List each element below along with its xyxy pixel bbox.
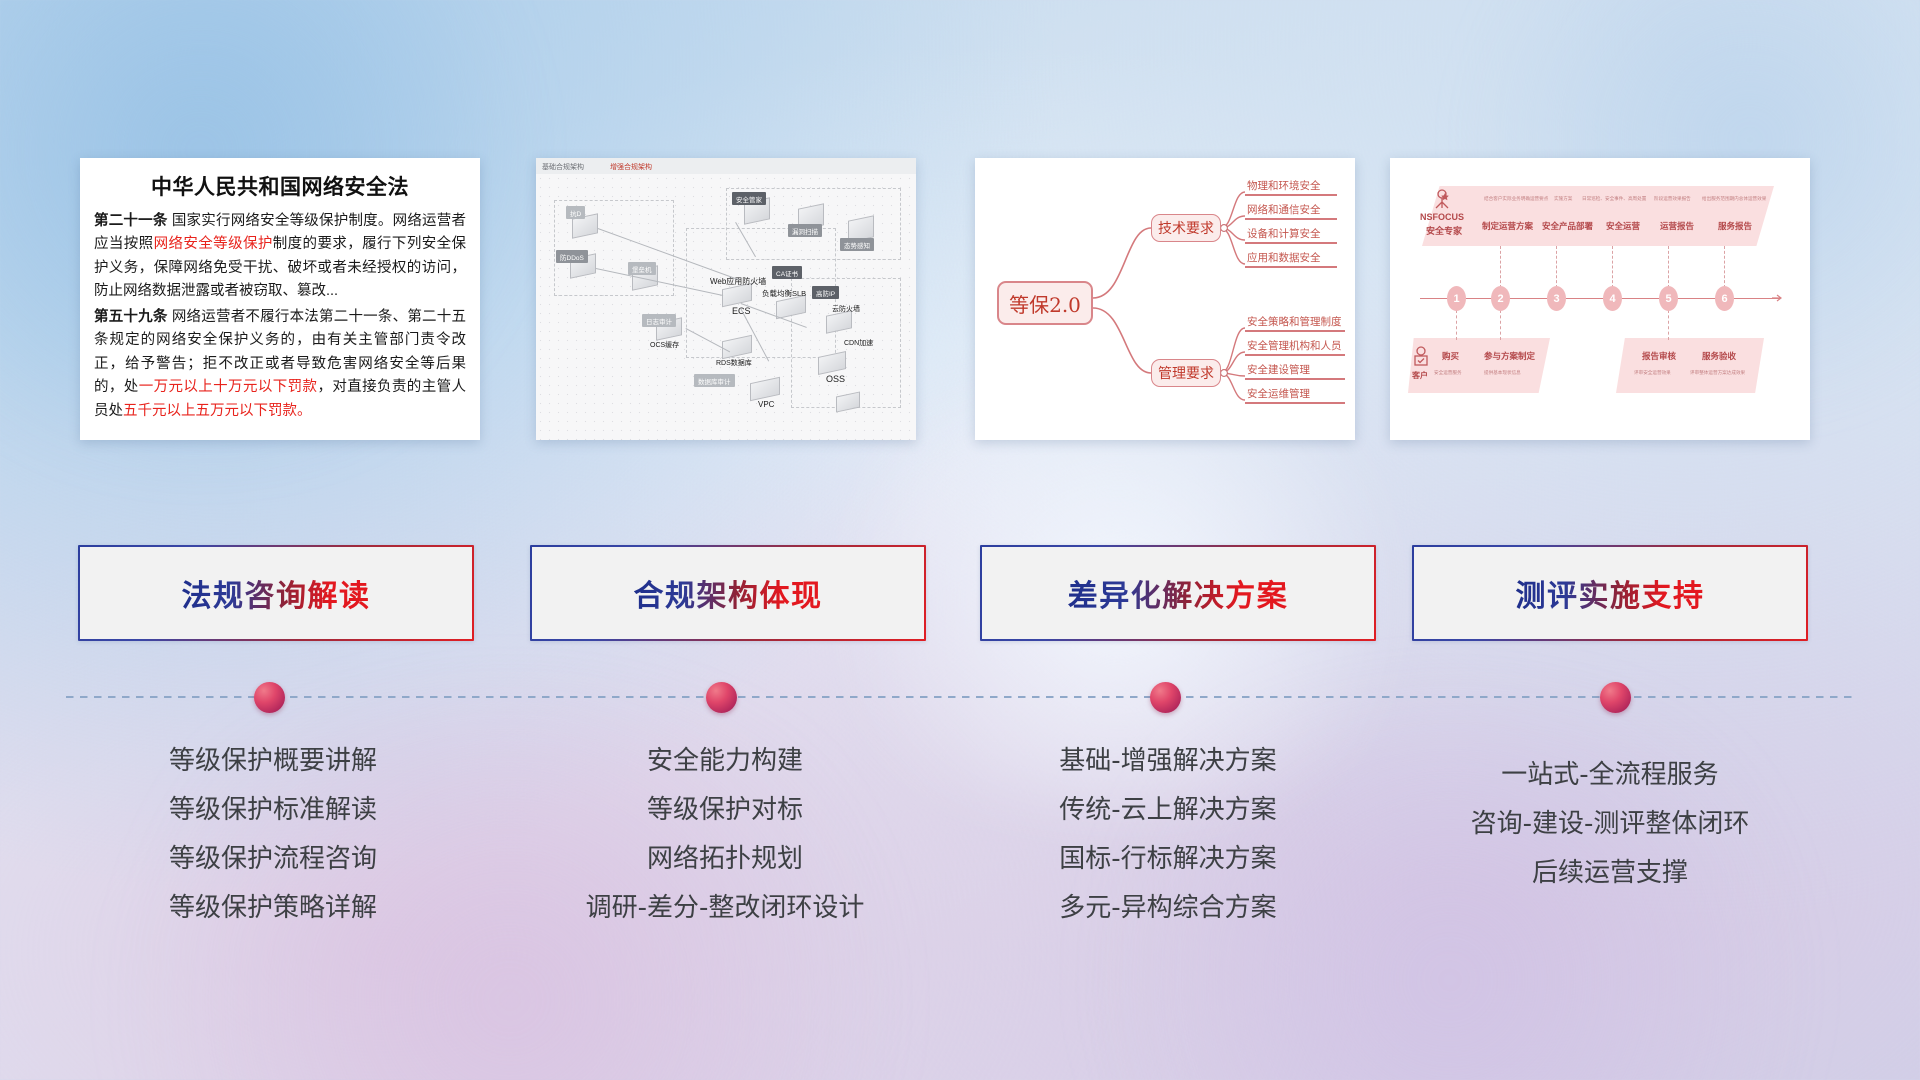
nsfocus-dash (1500, 246, 1501, 288)
mindmap-leaf: 安全策略和管理制度 (1247, 314, 1342, 331)
mindmap-leaf: 安全运维管理 (1247, 386, 1310, 403)
title-label: 差异化解决方案 (1068, 571, 1289, 615)
mindmap-card: 等保2.0 技术要求 管理要求 物理和环境安全 网络和通信安全 设备和计算安全 … (975, 158, 1355, 440)
law-article-59-number: 第五十九条 (94, 309, 168, 325)
mindmap-leaf: 物理和环境安全 (1247, 178, 1321, 195)
nsfocus-step: 6 (1715, 286, 1734, 311)
nsfocus-dash (1500, 310, 1501, 340)
arch-text: 负载均衡SLB (762, 288, 806, 299)
mindmap-leaf-underline (1245, 194, 1337, 196)
arch-label: 日志审计 (642, 314, 676, 327)
timeline-dot-4 (1600, 682, 1631, 713)
nsfocus-bottom-big: 购买 (1442, 350, 1459, 362)
architecture-band-left-label: 基础合规架构 (542, 162, 584, 172)
architecture-band-right-label: 增强合规架构 (610, 162, 652, 172)
mindmap-leaf: 安全建设管理 (1247, 362, 1310, 379)
title-box-compliance-architecture[interactable]: 合规架构体现 (530, 545, 926, 641)
mindmap-leaf-underline (1245, 266, 1337, 268)
nsfocus-step: 2 (1491, 286, 1510, 311)
arch-label: 安全管家 (732, 192, 766, 205)
arch-text: RDS数据库 (716, 358, 752, 368)
nsfocus-top-sub: 日常巡检、安全事件、高周处置 (1582, 196, 1646, 202)
law-card-title: 中华人民共和国网络安全法 (94, 171, 466, 201)
arch-label: CA证书 (772, 266, 802, 279)
law-article-21-run-1: 网络安全等级保护 (154, 236, 273, 252)
arch-label: 堡垒机 (628, 262, 656, 275)
law-article-21-number: 第二十一条 (94, 213, 168, 229)
arch-text: OCS缓存 (650, 340, 679, 350)
arch-label: 防DDoS (556, 250, 588, 263)
nsfocus-bottom-sub: 安全运营服务 (1434, 370, 1462, 376)
mindmap-leaf: 安全管理机构和人员 (1247, 338, 1342, 355)
list-item: 等级保护策略详解 (63, 887, 483, 930)
list-item: 调研-差分-整改闭环设计 (515, 887, 935, 930)
nsfocus-dash (1668, 310, 1669, 340)
list-item: 传统-云上解决方案 (958, 789, 1378, 832)
mindmap-branch-management: 管理要求 (1151, 359, 1221, 387)
title-label: 法规咨询解读 (182, 571, 371, 615)
slide-stage: 中华人民共和国网络安全法 第二十一条 国家实行网络安全等级保护制度。网络运营者应… (0, 0, 1920, 1080)
nsfocus-bottom-big: 服务验收 (1702, 350, 1736, 362)
nsfocus-dash (1556, 246, 1557, 288)
nsfocus-top-sub: 实施方案 (1554, 196, 1572, 202)
detail-column-4: 一站式-全流程服务 咨询-建设-测评整体闭环 后续运营支撑 (1400, 740, 1820, 901)
nsfocus-bottom-banner-right (1616, 338, 1764, 393)
timeline-dot-1 (254, 682, 285, 713)
customer-icon (1412, 346, 1430, 368)
list-item: 安全能力构建 (515, 740, 935, 783)
list-item: 咨询-建设-测评整体闭环 (1400, 803, 1820, 846)
arch-label: 抗D (566, 206, 585, 219)
mindmap-leaf-underline (1245, 354, 1345, 356)
nsfocus-top-big: 服务报告 (1718, 220, 1752, 232)
arch-text: Web应用防火墙 (710, 276, 766, 287)
list-item: 等级保护标准解读 (63, 789, 483, 832)
nsfocus-dash (1668, 246, 1669, 288)
list-item: 等级保护对标 (515, 789, 935, 832)
nsfocus-dash (1456, 310, 1457, 340)
nsfocus-bottom-sub: 提供基本现状信息 (1484, 370, 1521, 376)
architecture-diagram: 基础合规架构 增强合规架构 (536, 158, 916, 440)
law-article-59: 第五十九条 网络运营者不履行本法第二十一条、第二十五条规定的网络安全保护义务的，… (94, 306, 466, 423)
nsfocus-top-big: 制定运营方案 (1482, 220, 1533, 232)
title-box-evaluation-support[interactable]: 测评实施支持 (1412, 545, 1808, 641)
title-box-row: 法规咨询解读 合规架构体现 差异化解决方案 测评实施支持 (0, 545, 1920, 645)
law-article-21: 第二十一条 国家实行网络安全等级保护制度。网络运营者应当按照网络安全等级保护制度… (94, 210, 466, 304)
detail-column-2: 安全能力构建 等级保护对标 网络拓扑规划 调研-差分-整改闭环设计 (515, 740, 935, 936)
nsfocus-top-big: 安全运营 (1606, 220, 1640, 232)
mindmap-leaf: 设备和计算安全 (1247, 226, 1321, 243)
arch-text: VPC (758, 400, 774, 409)
timeline-dot-3 (1150, 682, 1181, 713)
nsfocus-top-sub: 阶段运营效果报告 (1654, 196, 1691, 202)
title-label: 合规架构体现 (634, 571, 823, 615)
list-item: 后续运营支撑 (1400, 852, 1820, 895)
security-expert-icon (1432, 189, 1452, 211)
mindmap-leaf-underline (1245, 378, 1345, 380)
nsfocus-top-banner (1422, 186, 1774, 246)
mindmap-diagram: 等保2.0 技术要求 管理要求 物理和环境安全 网络和通信安全 设备和计算安全 … (975, 158, 1355, 440)
title-box-regulation-consulting[interactable]: 法规咨询解读 (78, 545, 474, 641)
nsfocus-top-sub: 给出服务范围期内总体运营效果 (1702, 196, 1766, 202)
list-item: 国标-行标解决方案 (958, 838, 1378, 881)
list-item: 等级保护流程咨询 (63, 838, 483, 881)
nsfocus-bottom-sub: 评审整体运营方案达成效果 (1690, 370, 1745, 376)
list-item: 等级保护概要讲解 (63, 740, 483, 783)
nsfocus-expert-sub: 安全专家 (1426, 224, 1462, 237)
arch-text: OSS (826, 374, 845, 384)
mindmap-branch-technical: 技术要求 (1151, 214, 1221, 242)
nsfocus-top-sub: 结合客户实际业务明确运营要点 (1484, 196, 1548, 202)
nsfocus-customer-label: 客户 (1412, 370, 1428, 381)
nsfocus-dash (1612, 246, 1613, 288)
list-item: 多元-异构综合方案 (958, 887, 1378, 930)
arch-label: 漏洞扫描 (788, 224, 822, 237)
mindmap-leaf-underline (1245, 242, 1337, 244)
detail-column-1: 等级保护概要讲解 等级保护标准解读 等级保护流程咨询 等级保护策略详解 (63, 740, 483, 936)
architecture-band: 基础合规架构 增强合规架构 (536, 158, 916, 174)
list-item: 网络拓扑规划 (515, 838, 935, 881)
list-item: 一站式-全流程服务 (1400, 754, 1820, 797)
nsfocus-step: 4 (1603, 286, 1622, 311)
law-article-59-run-1: 一万元以上十万元以下罚款 (139, 379, 318, 395)
title-label: 测评实施支持 (1516, 571, 1705, 615)
list-item: 基础-增强解决方案 (958, 740, 1378, 783)
mindmap-leaf: 网络和通信安全 (1247, 202, 1321, 219)
mindmap-root: 等保2.0 (997, 281, 1093, 325)
detail-column-3: 基础-增强解决方案 传统-云上解决方案 国标-行标解决方案 多元-异构综合方案 (958, 740, 1378, 936)
timeline-dashed-line (66, 696, 1856, 698)
mindmap-leaf-underline (1245, 330, 1345, 332)
nsfocus-bottom-big: 参与方案制定 (1484, 350, 1535, 362)
nsfocus-top-big: 运营报告 (1660, 220, 1694, 232)
arch-label: 高防IP (812, 286, 839, 299)
law-card: 中华人民共和国网络安全法 第二十一条 国家实行网络安全等级保护制度。网络运营者应… (80, 158, 480, 440)
nsfocus-dash (1724, 246, 1725, 288)
arch-text: 云防火墙 (832, 304, 860, 314)
nsfocus-card: NSFOCUS 安全专家 客户 结合客户实际业务明确运营要点 制定运营方案 实施… (1390, 158, 1810, 440)
nsfocus-step: 5 (1659, 286, 1678, 311)
image-card-row: 中华人民共和国网络安全法 第二十一条 国家实行网络安全等级保护制度。网络运营者应… (0, 150, 1920, 445)
nsfocus-step: 1 (1447, 286, 1466, 311)
law-article-59-run-3: 五千元以上五万元以下罚款。 (123, 403, 312, 419)
arrow-right-icon (1772, 292, 1784, 304)
nsfocus-top-big: 安全产品部署 (1542, 220, 1593, 232)
title-box-differentiated-solution[interactable]: 差异化解决方案 (980, 545, 1376, 641)
arch-text: CDN加速 (844, 338, 873, 348)
detail-list-row: 等级保护概要讲解 等级保护标准解读 等级保护流程咨询 等级保护策略详解 安全能力… (0, 740, 1920, 1000)
law-card-body: 中华人民共和国网络安全法 第二十一条 国家实行网络安全等级保护制度。网络运营者应… (80, 158, 480, 431)
mindmap-leaf-underline (1245, 218, 1337, 220)
nsfocus-diagram: NSFOCUS 安全专家 客户 结合客户实际业务明确运营要点 制定运营方案 实施… (1390, 158, 1810, 440)
arch-label: 数据库审计 (694, 374, 735, 387)
nsfocus-bottom-big: 报告审核 (1642, 350, 1676, 362)
nsfocus-expert-label: NSFOCUS (1420, 212, 1464, 222)
mindmap-leaf-underline (1245, 402, 1345, 404)
nsfocus-bottom-sub: 评审安全运营效果 (1634, 370, 1671, 376)
nsfocus-step: 3 (1547, 286, 1566, 311)
mindmap-leaf: 应用和数据安全 (1247, 250, 1321, 267)
timeline-dot-2 (706, 682, 737, 713)
arch-label: 态势感知 (840, 238, 874, 251)
architecture-card: 基础合规架构 增强合规架构 (536, 158, 916, 440)
